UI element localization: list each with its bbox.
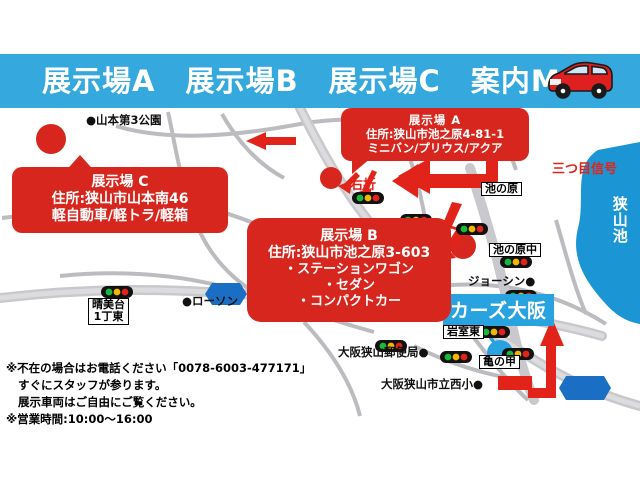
page-title: 展示場A 展示場B 展示場C 案内MAP	[42, 60, 606, 102]
label-nishi-elementary: 大阪狭山市立西小●	[381, 376, 483, 392]
info-box-showroom-a[interactable]: 展示場 A 住所:狭山市池之原4-81-1 ミニバン/プリウス/アクア	[341, 108, 529, 161]
footer-line-4: ※営業時間:10:00〜16:00	[6, 411, 153, 427]
box-c-title: 展示場 C	[16, 174, 224, 191]
info-box-showroom-c[interactable]: 展示場 C 住所:狭山市山本南46 軽自動車/軽トラ/軽箱	[12, 167, 228, 233]
signal-label-ikenohara-naka: 池の原中	[489, 243, 541, 257]
box-b-address: 住所:狭山市池之原3-603	[253, 245, 445, 262]
signal-label-harumidai: 晴美台 1丁東	[88, 298, 129, 325]
label-turn-right: 右折	[350, 174, 376, 193]
map-poster: 展示場A 展示場B 展示場C 案内MAP	[0, 0, 640, 480]
label-lawson: ●ローソン	[182, 293, 238, 309]
box-a-address: 住所:狭山市池之原4-81-1	[345, 127, 525, 141]
label-third-signal: 三つ目信号	[552, 158, 617, 177]
signal-label-iwamuro-higashi: 岩室東	[443, 325, 484, 339]
box-b-item-2: ・セダン	[253, 278, 445, 294]
marker-showroom-c	[36, 124, 66, 154]
box-b-item-1: ・ステーションワゴン	[253, 262, 445, 278]
box-a-title: 展示場 A	[345, 113, 525, 127]
label-sayama-pond: 狭山池	[611, 196, 627, 244]
signal-label-harumidai-line2: 1丁東	[94, 310, 124, 323]
red-car-icon	[543, 57, 617, 103]
label-cars-osaka: カーズ大阪	[443, 294, 554, 326]
box-b-title: 展示場 B	[253, 228, 445, 245]
signal-label-kamenoko: 亀の甲	[479, 355, 520, 369]
box-a-types: ミニバン/プリウス/アクア	[345, 141, 525, 155]
box-c-types: 軽自動車/軽トラ/軽箱	[16, 208, 224, 225]
info-box-showroom-b[interactable]: 展示場 B 住所:狭山市池之原3-603 ・ステーションワゴン ・セダン ・コン…	[247, 218, 451, 322]
arrow-left-top	[246, 132, 296, 150]
footer-line-2: すぐにスタッフが参ります。	[18, 377, 166, 393]
route-34-number: 34	[215, 393, 230, 406]
route-badge-310	[559, 376, 611, 400]
label-joshin: ジョーシン●	[468, 273, 535, 289]
footer-line-1: ※不在の場合はお電話ください「0078-6003-477171」	[6, 360, 311, 376]
label-post-office: 大阪狭山郵便局●	[338, 344, 429, 360]
box-b-item-3: ・コンパクトカー	[253, 294, 445, 310]
signal-label-ikenohara: 池の原	[481, 182, 522, 196]
box-c-address: 住所:狭山市山本南46	[16, 191, 224, 208]
footer-line-3: 展示車両はご自由にご覧ください。	[18, 394, 202, 410]
label-yamamoto-park: ●山本第3公園	[86, 112, 162, 128]
